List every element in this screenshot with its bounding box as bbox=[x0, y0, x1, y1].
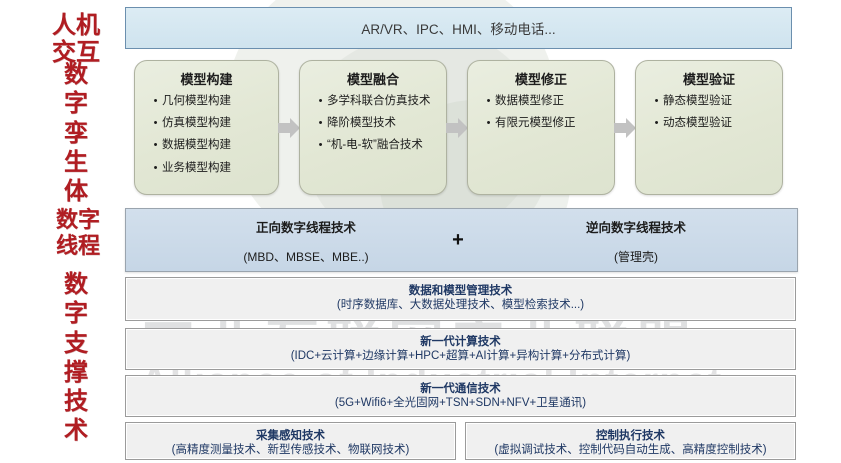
hmi-banner-label: AR/VR、IPC、HMI、移动电话... bbox=[361, 18, 555, 38]
stage-item-list: •数据模型修正 •有限元模型修正 bbox=[472, 95, 610, 130]
reverse-thread-subtitle: (管理壳) bbox=[486, 248, 786, 265]
bullet-icon: • bbox=[149, 117, 162, 130]
arrow-right-icon-3 bbox=[614, 118, 636, 138]
stage-list-item: •多学科联合仿真技术 bbox=[314, 95, 436, 108]
stage-item-list: •静态模型验证 •动态模型验证 bbox=[640, 95, 778, 130]
tech-bar-subtitle: (IDC+云计算+边缘计算+HPC+超算+AI计算+异构计算+分布式计算) bbox=[126, 349, 795, 364]
tech-bar-title: 数据和模型管理技术 bbox=[126, 283, 795, 297]
tech-bar-next-gen-communication: 新一代通信技术 (5G+Wifi6+全光固网+TSN+SDN+NFV+卫星通讯) bbox=[125, 375, 796, 417]
tech-bar-subtitle: (时序数据库、大数据处理技术、模型检索技术...) bbox=[126, 298, 795, 313]
architecture-diagram: AR/VR、IPC、HMI、移动电话... 模型构建 •几何模型构建 •仿真模型… bbox=[122, 0, 841, 463]
tech-bar-control-execution: 控制执行技术 (虚拟调试技术、控制代码自动生成、高精度控制技术) bbox=[465, 422, 796, 460]
stage-list-item: •静态模型验证 bbox=[650, 95, 772, 108]
stage-list-item: •仿真模型构建 bbox=[149, 117, 268, 130]
tech-bar-title: 新一代通信技术 bbox=[126, 381, 795, 395]
stage-box-model-correction: 模型修正 •数据模型修正 •有限元模型修正 bbox=[467, 60, 615, 195]
side-label-human-machine-interaction: 人机交互 bbox=[38, 12, 114, 66]
tech-bar-sensing-acquisition: 采集感知技术 (高精度测量技术、新型传感技术、物联网技术) bbox=[125, 422, 456, 460]
bullet-icon: • bbox=[149, 139, 162, 152]
stage-title: 模型验证 bbox=[640, 69, 778, 88]
hmi-banner: AR/VR、IPC、HMI、移动电话... bbox=[125, 7, 792, 49]
stage-title: 模型融合 bbox=[304, 69, 442, 88]
forward-thread-subtitle: (MBD、MBSE、MBE..) bbox=[156, 248, 456, 265]
tech-bar-subtitle: (高精度测量技术、新型传感技术、物联网技术) bbox=[126, 443, 455, 458]
plus-sign-icon: + bbox=[446, 229, 470, 252]
bullet-icon: • bbox=[650, 95, 663, 108]
stage-list-item: •数据模型修正 bbox=[482, 95, 604, 108]
stage-item-list: •多学科联合仿真技术 •降阶模型技术 •“机-电-软”融合技术 bbox=[304, 95, 442, 153]
stage-list-item: •数据模型构建 bbox=[149, 139, 268, 152]
side-label-digital-twin: 数字孪生体 bbox=[58, 60, 94, 206]
bullet-icon: • bbox=[314, 95, 327, 108]
stage-box-model-fusion: 模型融合 •多学科联合仿真技术 •降阶模型技术 •“机-电-软”融合技术 bbox=[299, 60, 447, 195]
bullet-icon: • bbox=[314, 117, 327, 130]
layer-label-column: 人机交互 数字孪生体 数字线程 数字支撑技术 bbox=[0, 0, 122, 463]
bullet-icon: • bbox=[482, 95, 495, 108]
side-label-digital-thread: 数字线程 bbox=[42, 208, 114, 260]
tech-bar-subtitle: (虚拟调试技术、控制代码自动生成、高精度控制技术) bbox=[466, 443, 795, 458]
tech-bar-next-gen-computing: 新一代计算技术 (IDC+云计算+边缘计算+HPC+超算+AI计算+异构计算+分… bbox=[125, 328, 796, 370]
reverse-digital-thread-group: 逆向数字线程技术 (管理壳) bbox=[486, 217, 786, 265]
bullet-icon: • bbox=[314, 139, 327, 152]
stage-title: 模型修正 bbox=[472, 69, 610, 88]
stage-list-item: •业务模型构建 bbox=[149, 162, 268, 175]
arrow-right-icon-1 bbox=[278, 118, 300, 138]
stage-list-item: •降阶模型技术 bbox=[314, 117, 436, 130]
stage-item-list: •几何模型构建 •仿真模型构建 •数据模型构建 •业务模型构建 bbox=[139, 95, 274, 175]
stage-title: 模型构建 bbox=[139, 69, 274, 88]
forward-digital-thread-group: 正向数字线程技术 (MBD、MBSE、MBE..) bbox=[156, 217, 456, 265]
bullet-icon: • bbox=[482, 117, 495, 130]
bullet-icon: • bbox=[149, 162, 162, 175]
reverse-thread-title: 逆向数字线程技术 bbox=[486, 217, 786, 236]
tech-bar-data-and-model-management: 数据和模型管理技术 (时序数据库、大数据处理技术、模型检索技术...) bbox=[125, 277, 796, 321]
tech-bar-title: 采集感知技术 bbox=[126, 428, 455, 442]
arrow-right-icon-2 bbox=[446, 118, 468, 138]
digital-thread-band: 正向数字线程技术 (MBD、MBSE、MBE..) + 逆向数字线程技术 (管理… bbox=[125, 208, 798, 272]
stage-list-item: •有限元模型修正 bbox=[482, 117, 604, 130]
stage-box-model-verification: 模型验证 •静态模型验证 •动态模型验证 bbox=[635, 60, 783, 195]
stage-list-item: •“机-电-软”融合技术 bbox=[314, 139, 436, 152]
bullet-icon: • bbox=[650, 117, 663, 130]
tech-bar-title: 新一代计算技术 bbox=[126, 334, 795, 348]
tech-bar-title: 控制执行技术 bbox=[466, 428, 795, 442]
tech-bar-subtitle: (5G+Wifi6+全光固网+TSN+SDN+NFV+卫星通讯) bbox=[126, 396, 795, 411]
stage-box-model-construction: 模型构建 •几何模型构建 •仿真模型构建 •数据模型构建 •业务模型构建 bbox=[134, 60, 279, 195]
stage-list-item: •几何模型构建 bbox=[149, 95, 268, 108]
stage-list-item: •动态模型验证 bbox=[650, 117, 772, 130]
forward-thread-title: 正向数字线程技术 bbox=[156, 217, 456, 236]
side-label-digital-support-technology: 数字支撑技术 bbox=[58, 270, 94, 446]
bullet-icon: • bbox=[149, 95, 162, 108]
